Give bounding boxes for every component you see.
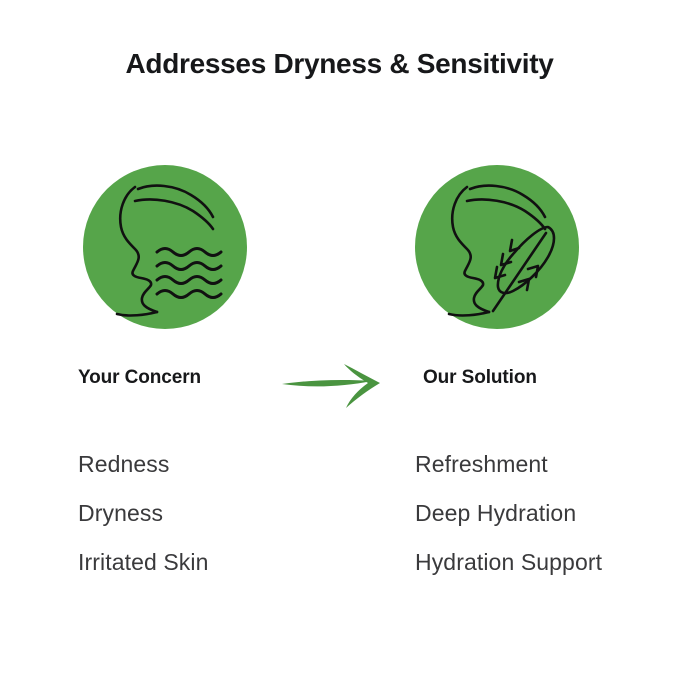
dryness-wave-lines <box>157 249 221 298</box>
list-item: Deep Hydration <box>415 489 602 538</box>
transition-arrow <box>280 360 400 410</box>
concern-column-label: Your Concern <box>78 367 201 389</box>
page-title: Addresses Dryness & Sensitivity <box>0 48 679 80</box>
list-item: Hydration Support <box>415 538 602 587</box>
face-profile-dry-skin-icon <box>83 165 247 329</box>
solution-column-label: Our Solution <box>423 367 537 389</box>
concern-icon-badge <box>83 165 247 329</box>
face-profile-feather-icon <box>415 165 579 329</box>
list-item: Refreshment <box>415 440 602 489</box>
feather-icon <box>493 227 554 311</box>
list-item: Irritated Skin <box>78 538 209 587</box>
list-item: Redness <box>78 440 209 489</box>
infographic-root: Addresses Dryness & Sensitivity <box>0 0 679 679</box>
concern-list: Redness Dryness Irritated Skin <box>78 440 209 587</box>
list-item: Dryness <box>78 489 209 538</box>
right-arrow-icon <box>280 360 400 410</box>
solution-icon-badge <box>415 165 579 329</box>
solution-list: Refreshment Deep Hydration Hydration Sup… <box>415 440 602 587</box>
